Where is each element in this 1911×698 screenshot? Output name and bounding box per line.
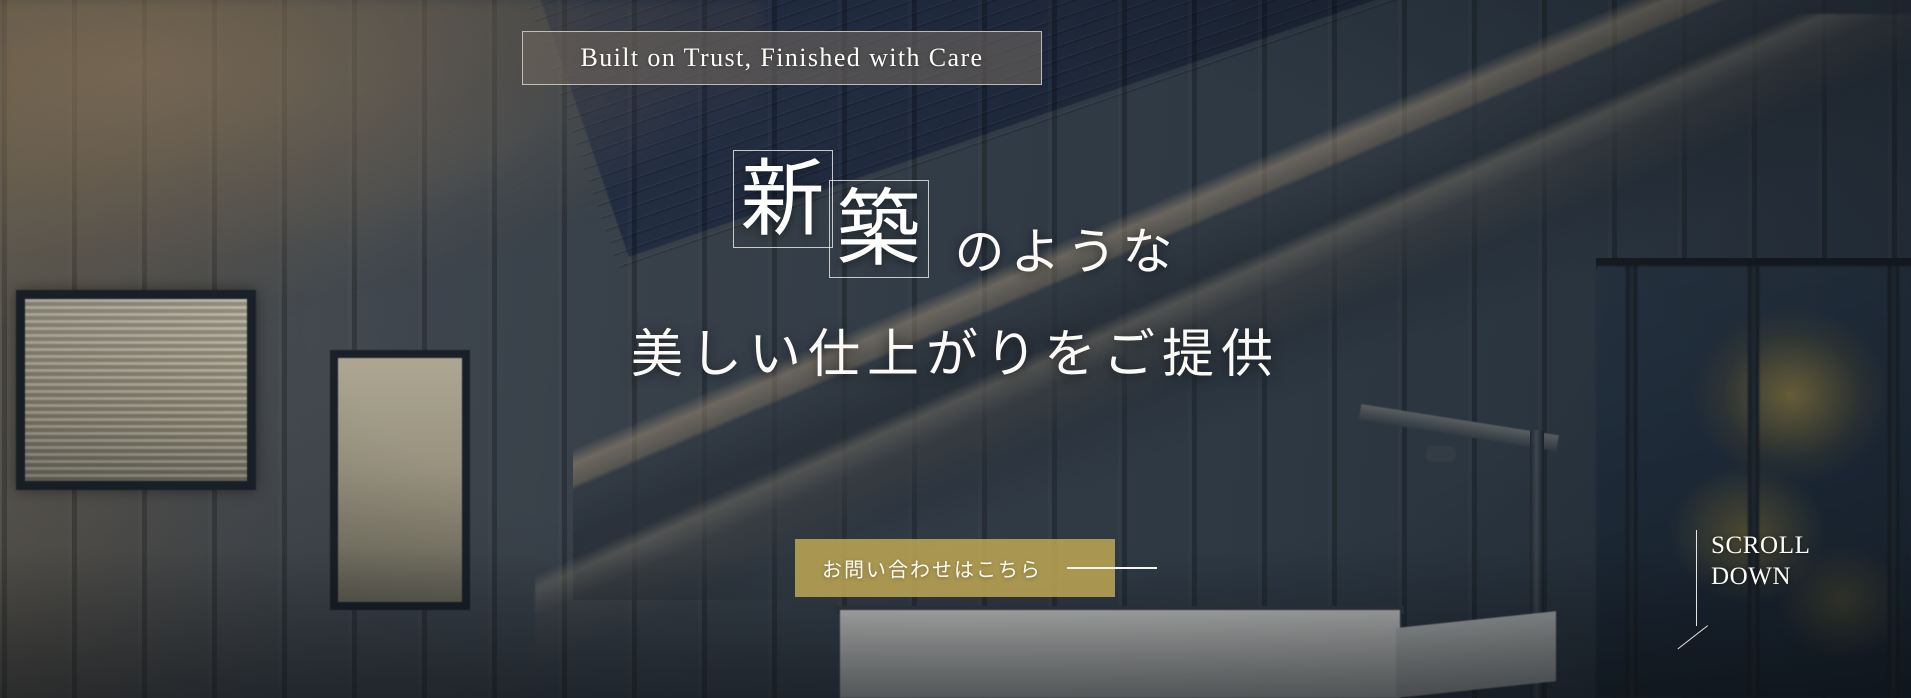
kanji-first: 新 bbox=[740, 157, 824, 241]
scroll-down-arrow-icon bbox=[1696, 530, 1697, 626]
kanji-box-first: 新 bbox=[733, 150, 833, 248]
kanji-group: 新 築 のような bbox=[733, 150, 1179, 284]
page-title: 新 築 のような bbox=[0, 150, 1911, 284]
scroll-label-line1: SCROLL bbox=[1711, 530, 1810, 561]
arrow-right-line-icon bbox=[1067, 567, 1157, 569]
scroll-label-line2: DOWN bbox=[1711, 561, 1810, 592]
headline-suffix: のような bbox=[955, 212, 1179, 284]
tagline-banner: Built on Trust, Finished with Care bbox=[522, 31, 1042, 85]
kanji-second: 築 bbox=[836, 187, 920, 271]
cta-wrapper: お問い合わせはこちら bbox=[795, 539, 1115, 597]
hero-content: Built on Trust, Finished with Care 新 築 の… bbox=[0, 0, 1911, 698]
scroll-down-label: SCROLL DOWN bbox=[1711, 530, 1810, 626]
subheadline: 美しい仕上がりをご提供 bbox=[0, 312, 1911, 387]
tagline-text: Built on Trust, Finished with Care bbox=[581, 43, 984, 73]
scroll-down-indicator[interactable]: SCROLL DOWN bbox=[1696, 530, 1810, 626]
scroll-arrow-tick bbox=[1677, 625, 1708, 649]
contact-cta-button[interactable]: お問い合わせはこちら bbox=[795, 539, 1115, 597]
kanji-box-second: 築 bbox=[829, 180, 929, 278]
hero-section: Built on Trust, Finished with Care 新 築 の… bbox=[0, 0, 1911, 698]
